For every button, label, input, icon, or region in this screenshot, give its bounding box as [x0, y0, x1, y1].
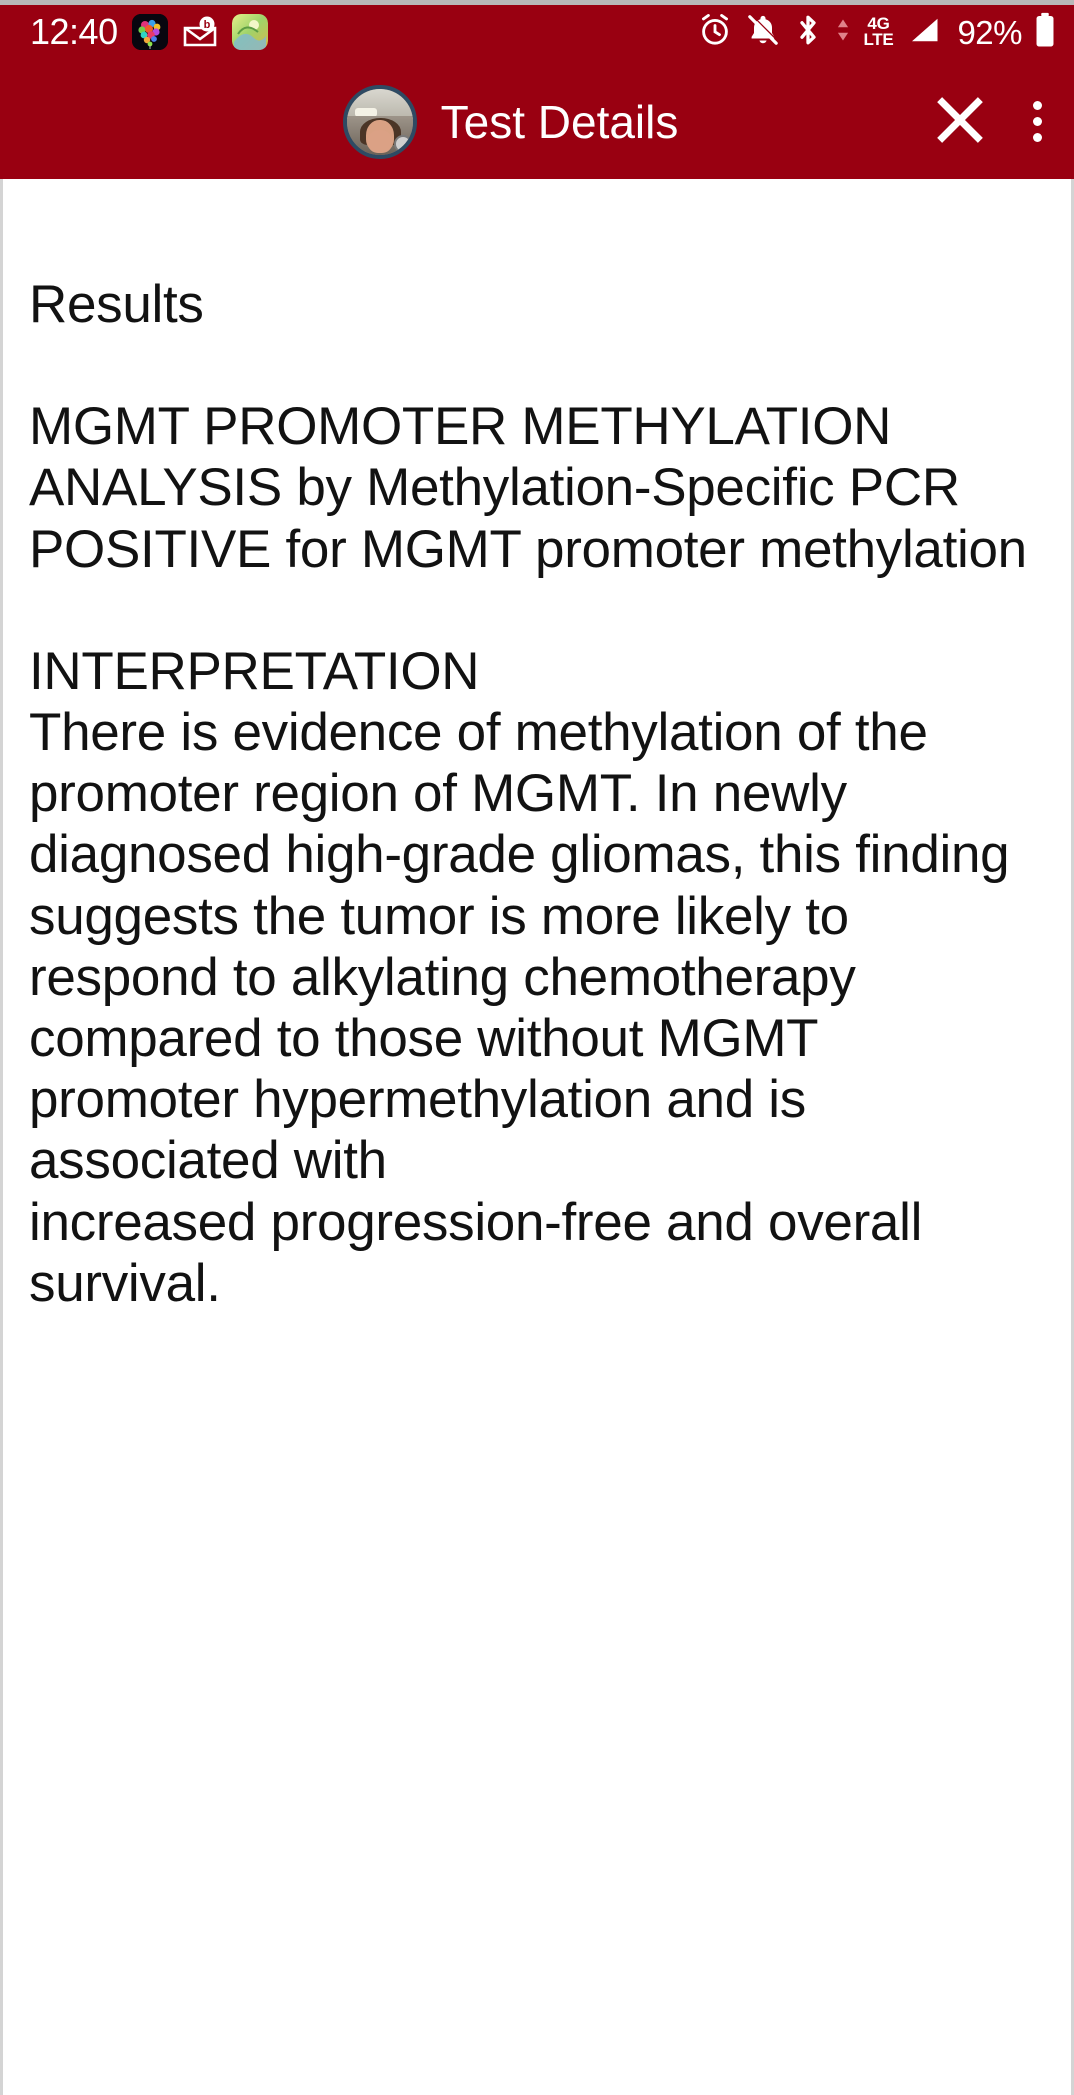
battery-percent-label: 92%: [957, 16, 1022, 49]
alarm-icon: [697, 12, 733, 53]
data-transfer-icon: [835, 12, 851, 53]
close-button[interactable]: [931, 91, 989, 152]
app-bar: Test Details: [0, 64, 1074, 179]
test-details-content[interactable]: Results MGMT PROMOTER METHYLATION ANALYS…: [0, 179, 1074, 2095]
status-bar: 12:40: [0, 0, 1074, 64]
mail-b-app-icon: b: [182, 14, 218, 50]
interpretation-body-paragraph-2: increased progression-free and overall s…: [29, 1192, 1041, 1314]
interpretation-heading: INTERPRETATION: [29, 641, 1041, 702]
bluetooth-icon: [793, 12, 823, 53]
signal-icon: [905, 12, 943, 53]
svg-text:b: b: [203, 19, 210, 31]
status-bar-right: 4G LTE 92%: [697, 11, 1056, 54]
page-title: Test Details: [441, 95, 679, 149]
phone-screen: 12:40: [0, 0, 1074, 2095]
app-bar-actions: [931, 91, 1052, 152]
test-name-text: MGMT PROMOTER METHYLATION ANALYSIS by Me…: [29, 396, 1041, 518]
status-bar-left: 12:40: [30, 14, 268, 50]
bell-muted-icon: [745, 12, 781, 53]
blank-line-2: [29, 580, 1041, 641]
app-bar-title-group: Test Details: [283, 85, 679, 159]
close-icon: [931, 91, 989, 152]
blank-line-1: [29, 335, 1041, 396]
balloons-app-icon: [132, 14, 168, 50]
avatar[interactable]: [343, 85, 417, 159]
network-type-label: 4G LTE: [863, 16, 893, 47]
result-value-text: POSITIVE for MGMT promoter methylation: [29, 519, 1041, 580]
overflow-menu-icon: [1023, 95, 1052, 148]
photo-app-icon: [232, 14, 268, 50]
interpretation-body-paragraph-1: There is evidence of methylation of the …: [29, 702, 1041, 1192]
overflow-menu-button[interactable]: [1023, 95, 1052, 148]
status-clock: 12:40: [30, 14, 118, 50]
results-section-heading: Results: [29, 274, 1041, 335]
network-type-standard: LTE: [863, 32, 893, 48]
battery-icon: [1034, 11, 1056, 54]
